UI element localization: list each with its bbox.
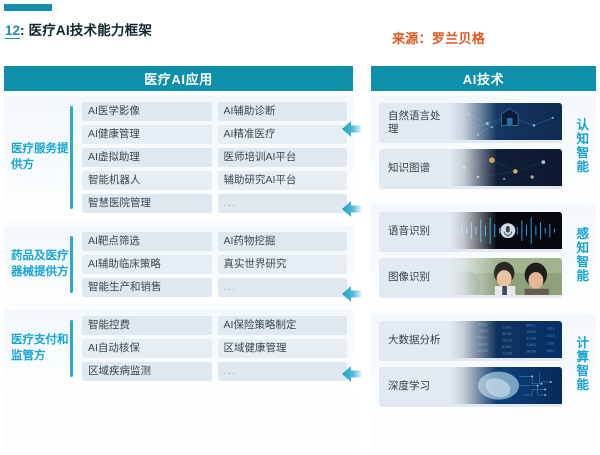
stakeholder-group: 药品及医疗器械提供方 AI靶点筛选 AI辅助临床策略 智能生产和销售 AI药物挖… (4, 226, 353, 304)
svg-text:11001: 11001 (527, 343, 537, 347)
technology-card[interactable]: 深度学习 (379, 367, 562, 407)
stakeholder-label: 医疗支付和监管方 (4, 316, 70, 381)
application-columns: 智能控费 AI自动核保 区域疾病监测 AI保险策略制定 区域健康管理 ... (82, 316, 353, 381)
application-chip[interactable]: AI辅助临床策略 (82, 255, 212, 274)
svg-text:00011: 00011 (527, 324, 537, 328)
application-chip[interactable]: 真实世界研究 (218, 255, 348, 274)
face-recognition-thumbnail (450, 258, 562, 298)
stakeholder-group: 医疗支付和监管方 智能控费 AI自动核保 区域疾病监测 AI保险策略制定 区域健… (4, 310, 353, 388)
application-chip[interactable]: 智能控费 (82, 316, 212, 335)
application-column: AI保险策略制定 区域健康管理 ... (218, 316, 348, 381)
nlp-network-thumbnail (450, 103, 562, 143)
source-attribution: 来源：罗兰贝格 (392, 28, 485, 47)
arrow-left-icon (340, 118, 364, 140)
group-accent-bar (70, 320, 73, 377)
knowledge-graph-thumbnail (450, 149, 562, 189)
application-column: AI靶点筛选 AI辅助临床策略 智能生产和销售 (82, 232, 212, 297)
application-chip[interactable]: AI辅助诊断 (218, 102, 348, 121)
svg-text:00111: 00111 (478, 336, 488, 340)
neural-brain-thumbnail (450, 367, 562, 407)
application-chip[interactable]: AI靶点筛选 (82, 232, 212, 251)
application-chip[interactable]: AI精准医疗 (218, 125, 348, 144)
arrow-left-icon (340, 283, 364, 305)
application-chip[interactable]: 医师培训AI平台 (218, 148, 348, 167)
technology-card[interactable]: 语音识别 (379, 212, 562, 252)
technology-group-label: 计算智能 (566, 336, 596, 392)
application-chip[interactable]: 智能机器人 (82, 171, 212, 190)
svg-text:10101: 10101 (456, 351, 466, 355)
slide-root: 12 : 医疗AI技术能力框架 来源：罗兰贝格 医疗AI应用 医疗服务提供方 A… (0, 0, 600, 455)
left-panel-header: 医疗AI应用 (4, 66, 353, 91)
svg-text:11011: 11011 (502, 325, 512, 329)
application-columns: AI靶点筛选 AI辅助临床策略 智能生产和销售 AI药物挖掘 真实世界研究 ..… (82, 232, 353, 297)
svg-text:10101: 10101 (527, 330, 537, 334)
application-chip[interactable]: 智能生产和销售 (82, 278, 212, 297)
svg-text:1101: 1101 (547, 341, 555, 345)
technology-group-label: 感知智能 (566, 227, 596, 283)
technology-label: 语音识别 (379, 225, 450, 238)
svg-text:10110: 10110 (502, 339, 512, 343)
application-chip[interactable]: AI医学影像 (82, 102, 212, 121)
stakeholder-label: 药品及医疗器械提供方 (4, 232, 70, 297)
svg-text:00101: 00101 (502, 332, 512, 336)
technology-card[interactable]: 知识图谱 (379, 149, 562, 189)
page-title-text: 医疗AI技术能力框架 (29, 19, 153, 39)
right-panel-body: 自然语言处理 (371, 91, 596, 451)
technology-card[interactable]: 图像识别 (379, 258, 562, 298)
application-chip[interactable]: 区域疾病监测 (82, 362, 212, 381)
svg-text:11001: 11001 (456, 338, 466, 342)
technology-card[interactable]: 自然语言处理 (379, 103, 562, 143)
svg-text:1011: 1011 (547, 326, 555, 330)
svg-text:01001: 01001 (502, 345, 512, 349)
application-column: AI医学影像 AI健康管理 AI虚拟助理 智能机器人 智慧医院管理 (82, 102, 212, 213)
application-chip[interactable]: 辅助研究AI平台 (218, 171, 348, 190)
left-panel-body: 医疗服务提供方 AI医学影像 AI健康管理 AI虚拟助理 智能机器人 智慧医院管… (4, 91, 353, 451)
stakeholder-group: 医疗服务提供方 AI医学影像 AI健康管理 AI虚拟助理 智能机器人 智慧医院管… (4, 96, 353, 220)
technology-group: 语音识别 (371, 205, 596, 306)
svg-text:01110: 01110 (527, 337, 537, 341)
technology-card[interactable]: 大数据分析 101100101111001 0011010101 0110111… (379, 321, 562, 361)
application-chip[interactable]: 区域健康管理 (218, 339, 348, 358)
svg-text:01011: 01011 (456, 331, 466, 335)
technology-label: 知识图谱 (379, 162, 450, 175)
application-chip-more[interactable]: ... (218, 362, 348, 381)
technology-label: 深度学习 (379, 380, 450, 393)
application-chip[interactable]: AI保险策略制定 (218, 316, 348, 335)
waveform-microphone-thumbnail (450, 212, 562, 252)
page-title: 12 : 医疗AI技术能力框架 (5, 19, 152, 39)
application-chip[interactable]: 智慧医院管理 (82, 194, 212, 213)
application-columns: AI医学影像 AI健康管理 AI虚拟助理 智能机器人 智慧医院管理 AI辅助诊断… (82, 102, 353, 213)
ai-technologies-panel: AI技术 自然语言处理 (371, 66, 596, 451)
svg-text:11100: 11100 (502, 352, 512, 356)
arrow-left-icon (340, 198, 364, 220)
arrow-left-icon (340, 363, 364, 385)
application-chip[interactable]: AI虚拟助理 (82, 148, 212, 167)
technology-label: 自然语言处理 (379, 110, 450, 136)
right-panel-header-label: AI技术 (463, 69, 504, 88)
svg-text:01100: 01100 (478, 349, 488, 353)
group-accent-bar (70, 106, 73, 209)
application-chip[interactable]: AI健康管理 (82, 125, 212, 144)
stakeholder-label: 医疗服务提供方 (4, 102, 70, 213)
svg-text:0110: 0110 (547, 334, 555, 338)
application-chip-more[interactable]: ... (218, 278, 348, 297)
svg-text:10010: 10010 (478, 342, 488, 346)
application-chip[interactable]: AI自动核保 (82, 339, 212, 358)
technology-items: 大数据分析 101100101111001 0011010101 0110111… (371, 321, 566, 407)
application-column: 智能控费 AI自动核保 区域疾病监测 (82, 316, 212, 381)
data-matrix-thumbnail: 101100101111001 0011010101 0110111010001… (450, 321, 562, 361)
application-column: AI药物挖掘 真实世界研究 ... (218, 232, 348, 297)
left-panel-header-label: 医疗AI应用 (144, 69, 213, 88)
application-column: AI辅助诊断 AI精准医疗 医师培训AI平台 辅助研究AI平台 ... (218, 102, 348, 213)
page-title-number: 12 (5, 24, 20, 39)
svg-text:00110: 00110 (456, 344, 466, 348)
top-accent-bar (4, 4, 52, 11)
technology-items: 语音识别 (371, 212, 566, 298)
group-accent-bar (70, 236, 73, 293)
technology-label: 大数据分析 (379, 334, 450, 347)
technology-group: 自然语言处理 (371, 96, 596, 197)
technology-group: 大数据分析 101100101111001 0011010101 0110111… (371, 314, 596, 415)
svg-text:00100: 00100 (527, 350, 537, 354)
technology-items: 自然语言处理 (371, 103, 566, 189)
svg-text:10110: 10110 (456, 325, 466, 329)
svg-text:11010: 11010 (478, 329, 488, 333)
svg-text:0011: 0011 (547, 349, 555, 353)
right-panel-header: AI技术 (371, 66, 596, 91)
application-chip-more[interactable]: ... (218, 194, 348, 213)
technology-group-label: 认知智能 (566, 118, 596, 174)
application-chip[interactable]: AI药物挖掘 (218, 232, 348, 251)
page-title-colon: : (20, 23, 25, 38)
medical-ai-applications-panel: 医疗AI应用 医疗服务提供方 AI医学影像 AI健康管理 AI虚拟助理 智能机器… (4, 66, 353, 451)
svg-text:01101: 01101 (478, 323, 488, 327)
technology-label: 图像识别 (379, 271, 450, 284)
